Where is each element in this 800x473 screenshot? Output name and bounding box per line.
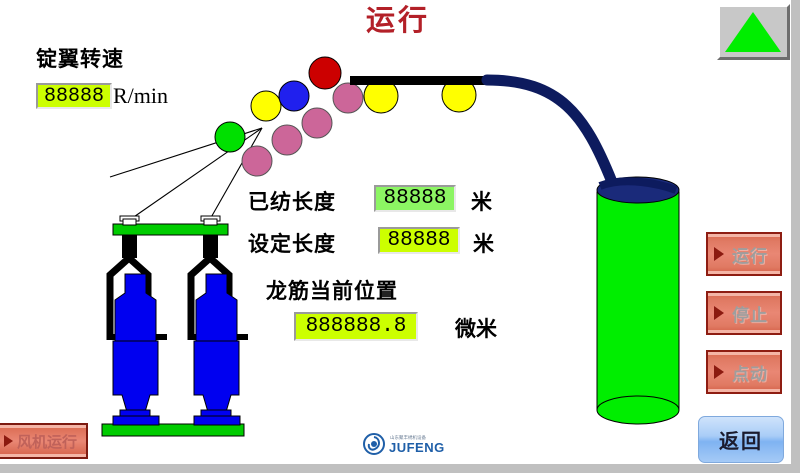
bottom-rail bbox=[102, 424, 244, 436]
ball-blue bbox=[279, 81, 309, 111]
bobbin-foot-left bbox=[113, 416, 159, 425]
hmi-screen: 运行 锭翼转速 88888 R/min 已纺长度 88888 米 设定长度 88… bbox=[0, 0, 800, 473]
ball-pink-1 bbox=[242, 146, 272, 176]
sliver-can bbox=[597, 177, 679, 424]
can-body bbox=[597, 192, 679, 410]
spindle-unit-right bbox=[188, 216, 248, 425]
fan-run-button[interactable]: 风机运行 bbox=[0, 423, 88, 459]
stop-button-label: 停止 bbox=[708, 293, 780, 333]
ball-pink-4 bbox=[333, 83, 363, 113]
rib-position-label: 龙筋当前位置 bbox=[266, 275, 398, 305]
run-button[interactable]: 运行 bbox=[706, 232, 782, 276]
flyer-stem-left bbox=[122, 235, 137, 258]
right-edge-strip bbox=[791, 0, 800, 473]
run-button-label: 运行 bbox=[708, 234, 780, 274]
bobbin-lower-left bbox=[113, 341, 158, 412]
delivery-pipe bbox=[487, 80, 612, 182]
brand-name: JUFENG bbox=[389, 440, 445, 455]
top-rail bbox=[113, 224, 228, 235]
jog-button-label: 点动 bbox=[708, 352, 780, 392]
bottom-edge-strip bbox=[0, 464, 800, 473]
ball-green bbox=[215, 122, 245, 152]
can-bottom bbox=[597, 396, 679, 424]
flyer-neck-right bbox=[204, 219, 217, 225]
flyer-neck-left bbox=[123, 219, 136, 225]
ball-pink-2 bbox=[272, 125, 302, 155]
flyer-stem-right bbox=[203, 235, 218, 258]
ball-chain bbox=[215, 57, 476, 176]
green-triangle-up-icon bbox=[725, 12, 781, 52]
speed-label: 锭翼转速 bbox=[36, 43, 124, 73]
spindle-unit-left bbox=[107, 216, 167, 425]
ball-yellow-1 bbox=[251, 91, 281, 121]
spun-length-value[interactable]: 88888 bbox=[374, 185, 456, 212]
jog-button[interactable]: 点动 bbox=[706, 350, 782, 394]
bobbin-lower-right bbox=[194, 341, 239, 412]
logo-dot-icon bbox=[371, 441, 377, 447]
spindle-assembly bbox=[102, 216, 248, 436]
back-button[interactable]: 返回 bbox=[698, 416, 784, 463]
set-length-unit: 米 bbox=[473, 228, 494, 258]
spun-length-label: 已纺长度 bbox=[248, 186, 336, 216]
set-length-value[interactable]: 88888 bbox=[378, 227, 460, 254]
fan-run-button-label: 风机运行 bbox=[0, 425, 86, 457]
stop-button[interactable]: 停止 bbox=[706, 291, 782, 335]
bobbin-foot-right bbox=[194, 416, 240, 425]
spun-length-unit: 米 bbox=[471, 186, 492, 216]
set-length-label: 设定长度 bbox=[248, 228, 336, 258]
ball-pink-3 bbox=[302, 108, 332, 138]
rib-position-value[interactable]: 888888.8 bbox=[294, 312, 418, 341]
rib-position-unit: 微米 bbox=[455, 313, 497, 343]
scroll-up-button[interactable] bbox=[717, 4, 790, 60]
ball-red bbox=[309, 57, 341, 89]
speed-unit: R/min bbox=[113, 83, 168, 109]
speed-value[interactable]: 88888 bbox=[36, 83, 112, 109]
page-title: 运行 bbox=[318, 2, 478, 38]
brand-logo: 山东聚丰绣机设备 JUFENG bbox=[362, 428, 454, 456]
overhead-beam bbox=[350, 76, 493, 85]
